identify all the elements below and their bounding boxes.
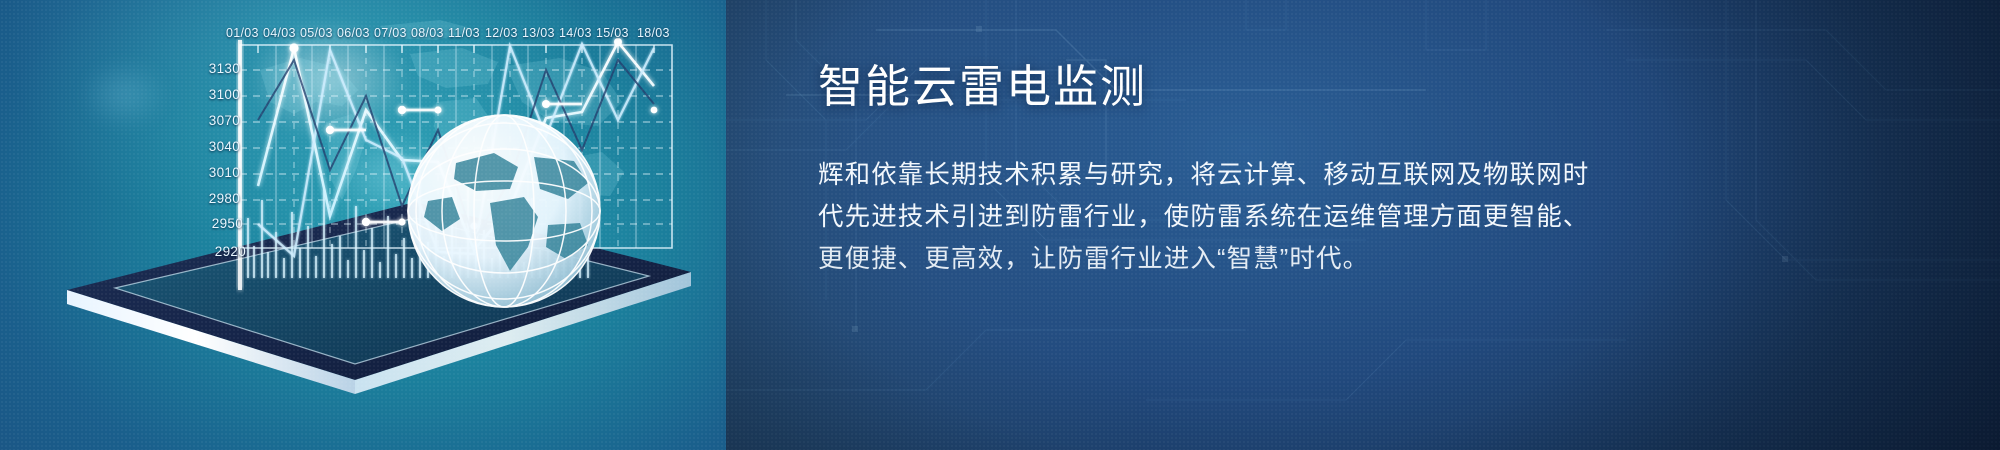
x-axis-tick-7: 12/03 [485,26,518,40]
x-axis-tick-10: 15/03 [596,26,629,40]
x-axis-tick-9: 14/03 [559,26,592,40]
y-axis-tick-7: 2920 [194,244,246,259]
hero-description: 辉和依靠长期技术积累与研究，将云计算、移动互联网及物联网时 代先进技术引进到防雷… [818,154,1808,280]
y-axis-tick-0: 3130 [188,61,240,76]
y-axis-tick-6: 2950 [191,216,243,231]
x-axis-tick-5: 08/03 [411,26,444,40]
x-axis-tick-6: 11/03 [448,26,480,40]
hero-text-panel: 智能云雷电监测 辉和依靠长期技术积累与研究，将云计算、移动互联网及物联网时 代先… [726,0,2000,450]
x-axis-tick-1: 04/03 [263,26,296,40]
wireframe-globe-icon [398,105,610,317]
hero-description-line-3: 更便捷、更高效，让防雷行业进入“智慧”时代。 [818,238,1808,280]
hero-description-line-1: 辉和依靠长期技术积累与研究，将云计算、移动互联网及物联网时 [818,154,1808,196]
y-axis-tick-1: 3100 [188,87,240,102]
hero-banner: 3130 3100 3070 3040 3010 2980 2950 2920 … [0,0,2000,450]
y-axis-tick-5: 2980 [188,191,240,206]
y-axis-tick-2: 3070 [188,113,240,128]
x-axis-tick-4: 07/03 [374,26,407,40]
x-axis-tick-11: 18/03 [637,26,670,40]
hero-visual-left: 3130 3100 3070 3040 3010 2980 2950 2920 … [0,0,726,450]
hero-copy-block: 智能云雷电监测 辉和依靠长期技术积累与研究，将云计算、移动互联网及物联网时 代先… [818,62,1918,280]
x-axis-tick-2: 05/03 [300,26,333,40]
hero-description-line-2: 代先进技术引进到防雷行业，使防雷系统在运维管理方面更智能、 [818,196,1808,238]
y-axis-tick-3: 3040 [188,139,240,154]
x-axis-tick-8: 13/03 [522,26,555,40]
x-axis-tick-3: 06/03 [337,26,370,40]
x-axis-tick-0: 01/03 [226,26,259,40]
line-chart-overlay [0,0,726,450]
y-axis-tick-4: 3010 [188,165,240,180]
page-title: 智能云雷电监测 [818,62,1918,112]
